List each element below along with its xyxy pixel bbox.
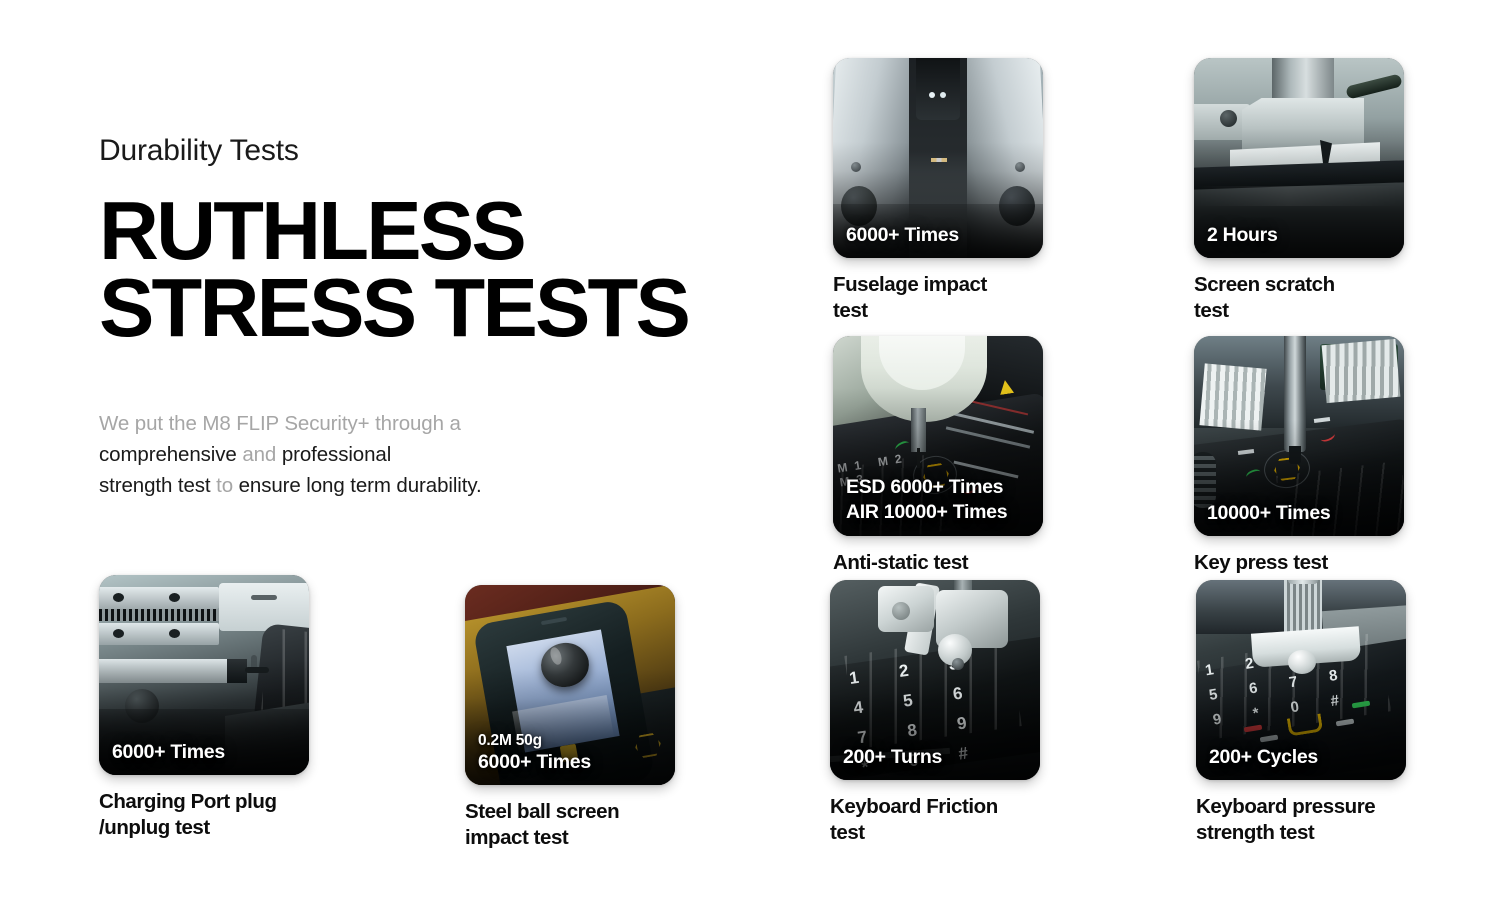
intro-paragraph: We put the M8 FLIP Security+ through a c… [99, 408, 799, 501]
metric-overlay: 6000+ Times [112, 740, 225, 764]
card-caption: Steel ball screen impact test [465, 799, 675, 850]
intro-seg: to [216, 474, 239, 497]
card-caption: Fuselage impact test [833, 272, 1043, 323]
card-thumbnail[interactable]: M1 M2 M3 ESD 6000+ Times AIR 10000+ Time… [833, 336, 1043, 536]
card-thumbnail[interactable]: 0.2M 50g 6000+ Times [465, 585, 675, 785]
card-thumbnail[interactable]: 6000+ Times [833, 58, 1043, 258]
caption-line: test [830, 820, 1040, 846]
metric-value-air: AIR 10000+ Times [846, 500, 1007, 525]
metric-overlay: ESD 6000+ Times AIR 10000+ Times [846, 475, 1007, 525]
test-card-anti-static[interactable]: M1 M2 M3 ESD 6000+ Times AIR 10000+ Time… [833, 336, 1043, 576]
caption-line: Key press test [1194, 550, 1404, 576]
metric-overlay: 2 Hours [1207, 223, 1278, 247]
intro-seg: professional [282, 443, 391, 466]
test-card-fuselage-impact[interactable]: 6000+ Times Fuselage impact test [833, 58, 1043, 323]
card-thumbnail[interactable]: 6000+ Times [99, 575, 309, 775]
intro-line-2: comprehensive and professional [99, 439, 799, 470]
metric-value: 6000+ Times [478, 750, 591, 774]
metric-overlay: 6000+ Times [846, 223, 959, 247]
caption-line: strength test [1196, 820, 1406, 846]
metric-value-esd: ESD 6000+ Times [846, 475, 1007, 500]
caption-line: /unplug test [99, 815, 309, 841]
test-card-keyboard-friction[interactable]: 1 2 3 4 5 6 7 8 9 * 0 # 200+ Turns Keybo… [830, 580, 1040, 845]
test-card-key-press[interactable]: 10000+ Times Key press test [1194, 336, 1404, 576]
test-card-screen-scratch[interactable]: 2 Hours Screen scratch test [1194, 58, 1404, 323]
card-caption: Screen scratch test [1194, 272, 1404, 323]
page-title: RUTHLESS STRESS TESTS [99, 192, 799, 346]
metric-value: 6000+ Times [846, 223, 959, 247]
card-thumbnail[interactable]: 10000+ Times [1194, 336, 1404, 536]
headline-line-1: RUTHLESS [99, 192, 799, 269]
card-thumbnail[interactable]: 1 2 3 4 5 6 7 8 9 * 0 # 200+ Cycles [1196, 580, 1406, 780]
eyebrow-label: Durability Tests [99, 132, 799, 170]
caption-line: Charging Port plug [99, 789, 309, 815]
caption-line: Keyboard Friction [830, 794, 1040, 820]
metric-overlay: 200+ Cycles [1209, 745, 1318, 769]
test-card-steel-ball[interactable]: 0.2M 50g 6000+ Times Steel ball screen i… [465, 585, 675, 850]
card-thumbnail[interactable]: 1 2 3 4 5 6 7 8 9 * 0 # 200+ Turns [830, 580, 1040, 780]
caption-line: Fuselage impact [833, 272, 1043, 298]
card-caption: Charging Port plug /unplug test [99, 789, 309, 840]
metric-overlay: 10000+ Times [1207, 501, 1330, 525]
metric-value: 200+ Turns [843, 745, 942, 769]
metric-value: 6000+ Times [112, 740, 225, 764]
caption-line: Screen scratch [1194, 272, 1404, 298]
headline-line-2: STRESS TESTS [99, 269, 799, 346]
card-caption: Keyboard pressure strength test [1196, 794, 1406, 845]
caption-line: impact test [465, 825, 675, 851]
intro-seg: and [242, 443, 282, 466]
metric-overlay: 0.2M 50g 6000+ Times [478, 731, 591, 774]
intro-seg: ensure long term durability. [239, 474, 482, 497]
metric-spec: 0.2M 50g [478, 731, 591, 750]
intro-line-1: We put the M8 FLIP Security+ through a [99, 408, 799, 439]
card-thumbnail[interactable]: 2 Hours [1194, 58, 1404, 258]
caption-line: test [833, 298, 1043, 324]
intro-seg: strength test [99, 474, 216, 497]
intro-line-3: strength test to ensure long term durabi… [99, 470, 799, 501]
test-card-keyboard-pressure[interactable]: 1 2 3 4 5 6 7 8 9 * 0 # 200+ Cycles Keyb… [1196, 580, 1406, 845]
hero-section: Durability Tests RUTHLESS STRESS TESTS W… [99, 132, 799, 501]
card-caption: Keyboard Friction test [830, 794, 1040, 845]
metric-value: 200+ Cycles [1209, 745, 1318, 769]
intro-seg: We put the M8 FLIP Security+ through a [99, 412, 461, 435]
caption-line: Steel ball screen [465, 799, 675, 825]
card-caption: Anti-static test [833, 550, 1043, 576]
caption-line: Keyboard pressure [1196, 794, 1406, 820]
card-caption: Key press test [1194, 550, 1404, 576]
metric-value: 2 Hours [1207, 223, 1278, 247]
metric-overlay: 200+ Turns [843, 745, 942, 769]
metric-value: 10000+ Times [1207, 501, 1330, 525]
intro-seg: comprehensive [99, 443, 242, 466]
test-card-charging-port[interactable]: 6000+ Times Charging Port plug /unplug t… [99, 575, 309, 840]
caption-line: Anti-static test [833, 550, 1043, 576]
caption-line: test [1194, 298, 1404, 324]
